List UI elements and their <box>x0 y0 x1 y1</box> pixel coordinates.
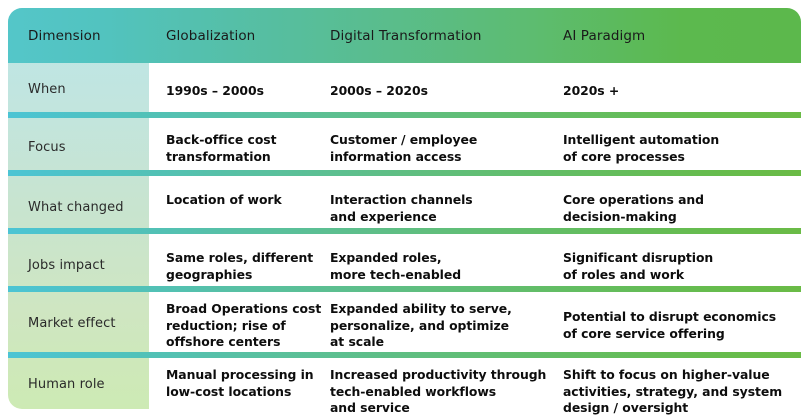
row-label-jobs-impact: Jobs impact <box>28 258 105 273</box>
cell-what-changed-ai: Core operations and decision-making <box>563 192 798 225</box>
column-header-ai-paradigm: AI Paradigm <box>563 28 645 44</box>
cell-focus-digital: Customer / employee information access <box>330 132 555 165</box>
cell-market-effect-digital: Expanded ability to serve, personalize, … <box>330 301 560 351</box>
comparison-table: Dimension Globalization Digital Transfor… <box>0 0 809 417</box>
cell-human-role-ai: Shift to focus on higher-value activitie… <box>563 367 809 417</box>
cell-focus-globalization: Back-office cost transformation <box>166 132 321 165</box>
cell-jobs-impact-ai: Significant disruption of roles and work <box>563 250 798 283</box>
row-label-focus: Focus <box>28 140 66 155</box>
cell-when-ai: 2020s + <box>563 83 793 100</box>
row-separator <box>8 286 801 292</box>
cell-market-effect-ai: Potential to disrupt economics of core s… <box>563 309 808 342</box>
row-label-what-changed: What changed <box>28 200 124 215</box>
row-separator <box>8 170 801 176</box>
cell-when-globalization: 1990s – 2000s <box>166 83 316 100</box>
cell-jobs-impact-globalization: Same roles, different geographies <box>166 250 324 283</box>
row-separator <box>8 228 801 234</box>
cell-when-digital: 2000s – 2020s <box>330 83 550 100</box>
cell-focus-ai: Intelligent automation of core processes <box>563 132 798 165</box>
cell-market-effect-globalization: Broad Operations cost reduction; rise of… <box>166 301 328 351</box>
row-label-human-role: Human role <box>28 377 105 392</box>
row-label-market-effect: Market effect <box>28 316 116 331</box>
row-separator <box>8 112 801 118</box>
cell-human-role-digital: Increased productivity through tech-enab… <box>330 367 565 417</box>
cell-human-role-globalization: Manual processing in low-cost locations <box>166 367 326 400</box>
column-header-dimension: Dimension <box>28 28 101 44</box>
column-header-digital-transformation: Digital Transformation <box>330 28 482 44</box>
row-separator <box>8 352 801 358</box>
column-header-globalization: Globalization <box>166 28 255 44</box>
cell-jobs-impact-digital: Expanded roles, more tech-enabled <box>330 250 555 283</box>
cell-what-changed-digital: Interaction channels and experience <box>330 192 555 225</box>
cell-what-changed-globalization: Location of work <box>166 192 321 209</box>
row-label-when: When <box>28 82 66 97</box>
